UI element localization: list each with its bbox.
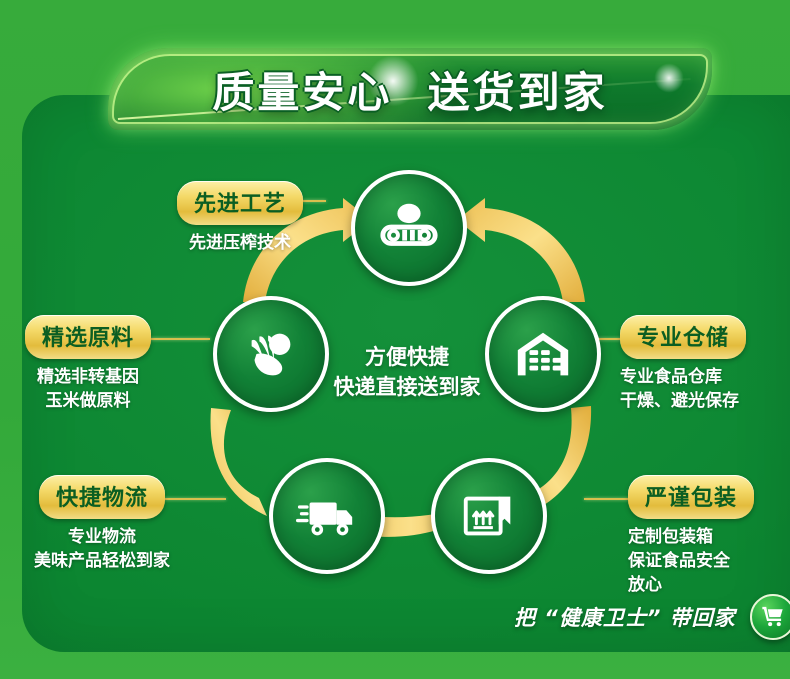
center-caption-line2: 快递直接送到家	[307, 372, 507, 402]
title-banner: 质量安心 送货到家	[108, 48, 712, 130]
label-desc-logistics: 专业物流 美味产品轻松到家	[12, 525, 192, 573]
label-title-process: 先进工艺	[177, 181, 303, 225]
label-title-logistics: 快捷物流	[39, 475, 165, 519]
label-advanced-process: 先进工艺 先进压榨技术	[150, 181, 330, 255]
label-desc-storage: 专业食品仓库 干燥、避光保存	[620, 365, 790, 413]
node-advanced-process[interactable]	[351, 170, 467, 286]
arrow-process-to-storage	[457, 196, 597, 308]
label-title-material: 精选原料	[25, 315, 151, 359]
shopping-cart-button[interactable]	[750, 594, 790, 640]
page-title: 质量安心 送货到家	[108, 48, 712, 130]
label-desc-material: 精选非转基因 玉米做原料	[8, 365, 168, 413]
center-caption-line1: 方便快捷	[307, 342, 507, 372]
label-selected-material: 精选原料 精选非转基因 玉米做原料	[8, 315, 168, 413]
warehouse-icon	[512, 323, 574, 385]
center-caption: 方便快捷 快递直接送到家	[307, 342, 507, 402]
node-fast-logistics[interactable]	[269, 458, 385, 574]
package-box-icon	[458, 485, 520, 547]
cta-text: 把 “健康卫士” 带回家	[514, 602, 736, 632]
cta-group[interactable]: 把 “健康卫士” 带回家	[514, 594, 790, 640]
conveyor-belt-icon	[378, 197, 440, 259]
label-title-packaging: 严谨包装	[628, 475, 754, 519]
shopping-cart-icon	[760, 603, 785, 632]
hand-with-grain-icon	[240, 323, 302, 385]
infographic-root: 质量安心 送货到家	[0, 0, 790, 679]
label-professional-storage: 专业仓储 专业食品仓库 干燥、避光保存	[620, 315, 790, 413]
delivery-truck-icon	[296, 485, 358, 547]
label-fast-logistics: 快捷物流 专业物流 美味产品轻松到家	[12, 475, 192, 573]
label-desc-packaging: 定制包装箱 保证食品安全 放心	[628, 525, 790, 597]
label-careful-packaging: 严谨包装 定制包装箱 保证食品安全 放心	[628, 475, 790, 597]
label-desc-process: 先进压榨技术	[150, 231, 330, 255]
node-careful-packaging[interactable]	[431, 458, 547, 574]
label-title-storage: 专业仓储	[620, 315, 746, 359]
